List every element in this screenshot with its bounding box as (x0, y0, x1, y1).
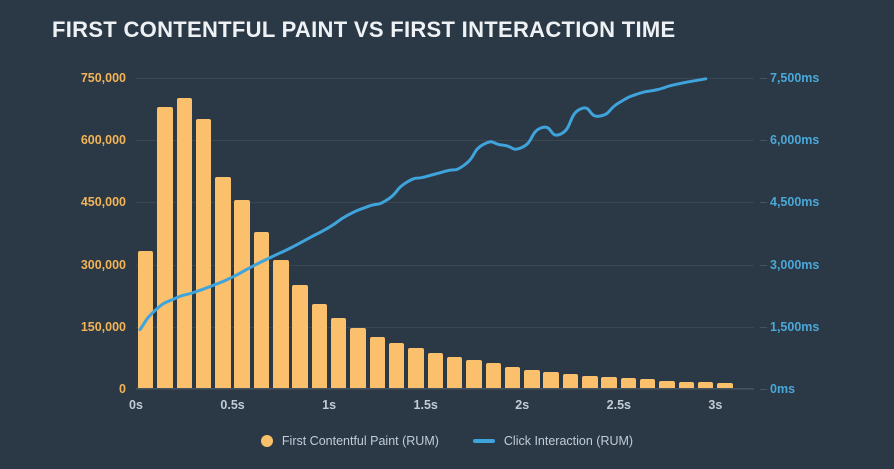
bar[interactable] (486, 363, 501, 389)
y-axis-right-tick-label: 3,000ms (770, 258, 860, 272)
bar[interactable] (524, 370, 539, 389)
y-axis-left-tick-label: 600,000 (46, 133, 126, 147)
y-axis-right: 0ms1,500ms3,000ms4,500ms6,000ms7,500ms (770, 78, 870, 389)
bar[interactable] (563, 374, 578, 389)
bar[interactable] (331, 318, 346, 389)
y-axis-right-tick-mark (760, 327, 767, 328)
plot-area (136, 78, 754, 389)
y-axis-right-tick-mark (760, 78, 767, 79)
chart-legend: First Contentful Paint (RUM)Click Intera… (0, 434, 894, 448)
x-axis-tick-label: 3s (708, 398, 722, 412)
bar[interactable] (582, 376, 597, 389)
y-axis-left-tick-label: 450,000 (46, 195, 126, 209)
y-axis-right-tick-label: 4,500ms (770, 195, 860, 209)
y-axis-right-tick-label: 0ms (770, 382, 860, 396)
bar[interactable] (466, 360, 481, 389)
y-axis-left-tick-label: 750,000 (46, 71, 126, 85)
y-axis-right-tick-mark (760, 389, 767, 390)
y-axis-right-tick-mark (760, 202, 767, 203)
bar[interactable] (408, 348, 423, 389)
y-axis-left: 0150,000300,000450,000600,000750,000 (36, 78, 126, 389)
bar[interactable] (447, 357, 462, 389)
legend-dot-icon (261, 435, 273, 447)
bar[interactable] (370, 337, 385, 389)
y-axis-left-tick-label: 150,000 (46, 320, 126, 334)
legend-line-icon (473, 439, 495, 443)
x-axis-tick-label: 0s (129, 398, 143, 412)
bar[interactable] (254, 232, 269, 389)
x-axis-tick-label: 2.5s (607, 398, 631, 412)
bar[interactable] (428, 353, 443, 389)
bar[interactable] (543, 372, 558, 389)
bar[interactable] (312, 304, 327, 389)
bar[interactable] (350, 328, 365, 389)
legend-item[interactable]: First Contentful Paint (RUM) (261, 434, 439, 448)
gridline (136, 78, 754, 79)
gridline (136, 140, 754, 141)
bar[interactable] (215, 177, 230, 389)
legend-label: First Contentful Paint (RUM) (282, 434, 439, 448)
x-axis-baseline (136, 388, 754, 389)
bar[interactable] (196, 119, 211, 389)
bar[interactable] (157, 107, 172, 389)
legend-label: Click Interaction (RUM) (504, 434, 633, 448)
bar[interactable] (389, 343, 404, 389)
y-axis-right-tick-label: 6,000ms (770, 133, 860, 147)
bar[interactable] (292, 285, 307, 389)
x-axis: 0s0.5s1s1.5s2s2.5s3s (136, 392, 754, 416)
y-axis-right-tick-mark (760, 140, 767, 141)
x-axis-tick-label: 1.5s (414, 398, 438, 412)
gridline (136, 389, 754, 390)
y-axis-right-tick-mark (760, 265, 767, 266)
y-axis-left-tick-label: 0 (46, 382, 126, 396)
x-axis-tick-label: 0.5s (220, 398, 244, 412)
x-axis-tick-label: 2s (515, 398, 529, 412)
page-title: FIRST CONTENTFUL PAINT VS FIRST INTERACT… (52, 17, 675, 43)
legend-item[interactable]: Click Interaction (RUM) (473, 434, 633, 448)
bar[interactable] (177, 98, 192, 389)
bar[interactable] (505, 367, 520, 389)
x-axis-tick-label: 1s (322, 398, 336, 412)
bar[interactable] (234, 200, 249, 389)
y-axis-left-tick-label: 300,000 (46, 258, 126, 272)
y-axis-right-tick-label: 7,500ms (770, 71, 860, 85)
bar[interactable] (138, 251, 153, 389)
bar[interactable] (273, 260, 288, 389)
chart-page: FIRST CONTENTFUL PAINT VS FIRST INTERACT… (0, 0, 894, 469)
y-axis-right-tick-label: 1,500ms (770, 320, 860, 334)
